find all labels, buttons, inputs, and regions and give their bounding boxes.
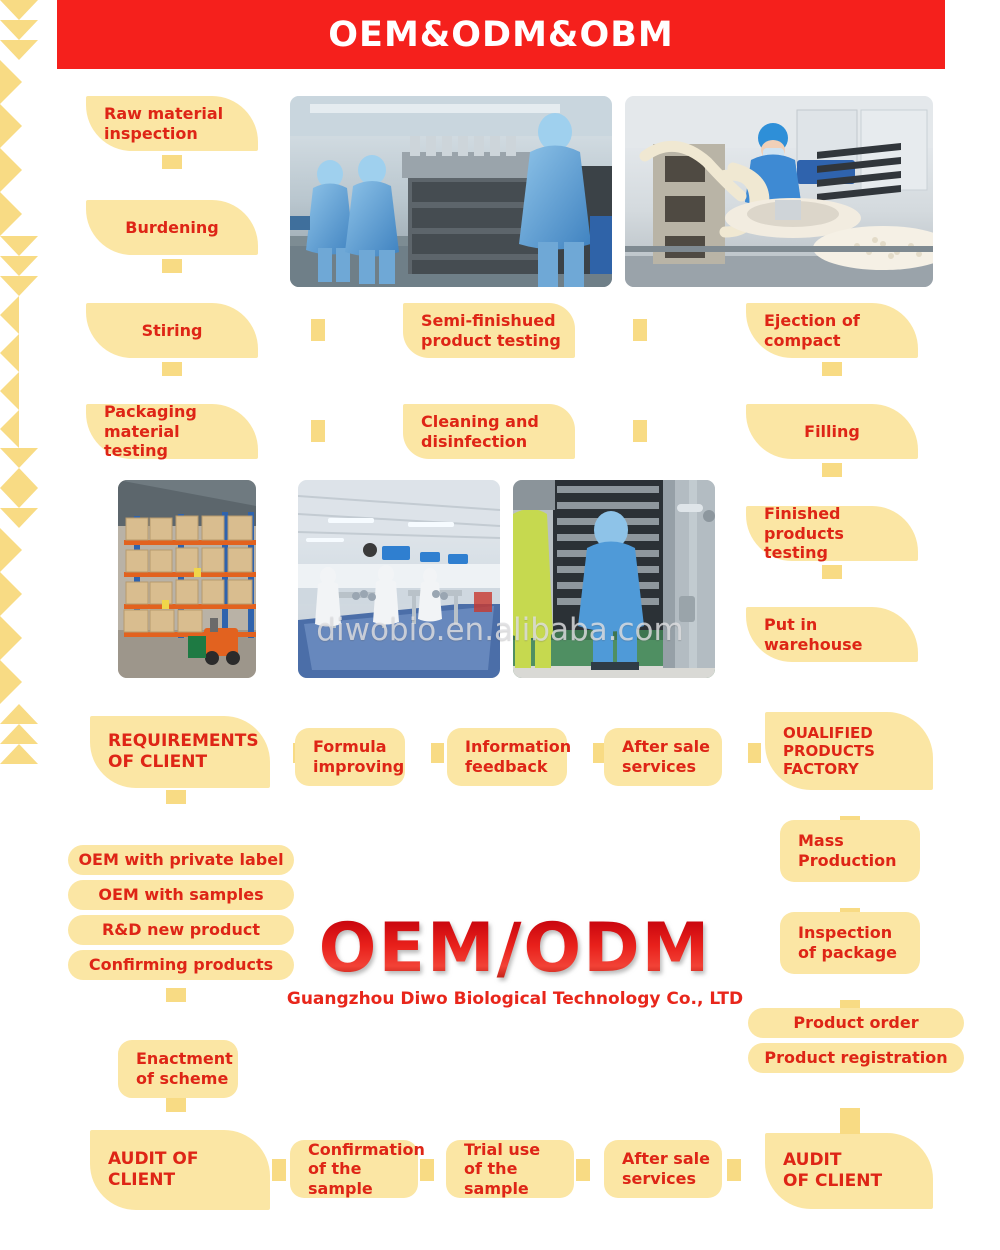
photo-vacuum-drying-oven: [513, 480, 715, 678]
arrow-down-icon-8: [0, 488, 38, 508]
arrow-down-icon-5: [0, 256, 38, 276]
arrow-down-stem-5: [822, 463, 842, 477]
arrow-right-icon-4: [0, 192, 22, 236]
arrow-down-icon-7: [0, 448, 38, 468]
oem-node-trial-use-of-sample: Trial use of the sample: [446, 1140, 574, 1198]
arrow-down-stem-7: [166, 790, 186, 804]
oem-node-inspection-of-package: Inspection of package: [780, 912, 920, 974]
logo-subtitle: Guangzhou Diwo Biological Technology Co.…: [250, 989, 780, 1009]
arrow-right-icon-8: [0, 660, 22, 704]
arrow-down-stem-4: [822, 362, 842, 376]
arrow-left-icon-3: [0, 372, 19, 410]
arrow-down-stem-8: [166, 988, 186, 1002]
flow-node-burdening: Burdening: [86, 200, 258, 255]
arrow-right-stem-5: [272, 1159, 286, 1181]
arrow-down-icon-2: [0, 20, 38, 40]
page-title: OEM&ODM&OBM: [328, 15, 673, 55]
arrow-right-stem-4: [633, 420, 647, 442]
arrow-down-stem-9: [166, 1098, 186, 1112]
flow-node-finished-products-testing: Finished products testing: [746, 506, 918, 561]
oem-node-product-order: Product order: [748, 1008, 964, 1038]
arrow-right-icon-5: [0, 528, 22, 572]
oem-node-audit-of-client-right: AUDIT OF CLIENT: [765, 1133, 933, 1209]
arrow-left-stem-2: [431, 743, 444, 763]
flow-node-raw-material-inspection: Raw material inspection: [86, 96, 258, 151]
arrow-right-stem-1: [311, 319, 325, 341]
oem-service-oem-with-samples: OEM with samples: [68, 880, 294, 910]
flow-node-put-in-warehouse: Put in warehouse: [746, 607, 918, 662]
arrow-right-icon-7: [0, 616, 22, 660]
arrow-right-icon-1: [0, 60, 22, 104]
flow-node-packaging-material-testing: Packaging material testing: [86, 404, 258, 459]
arrow-left-icon-1: [0, 296, 19, 334]
arrow-up-icon-2: [0, 704, 38, 724]
arrow-right-stem-8: [727, 1159, 741, 1181]
flow-node-filling: Filling: [746, 404, 918, 459]
arrow-down-icon-4: [0, 236, 38, 256]
oem-node-qualified-products-factory: OUALIFIED PRODUCTS FACTORY: [765, 712, 933, 790]
oem-node-mass-production: Mass Production: [780, 820, 920, 882]
photo-cleanroom-workshop-art: [298, 480, 500, 678]
oem-node-requirements-of-client: REQUIREMENTS OF CLIENT: [90, 716, 270, 788]
flow-node-ejection-of-compact: Ejection of compact: [746, 303, 918, 358]
oem-service-oem-private-label: OEM with private label: [68, 845, 294, 875]
flow-node-semi-finished-product-testing: Semi-finishued product testing: [403, 303, 575, 358]
arrow-up-icon-4: [0, 744, 38, 764]
arrow-right-icon-6: [0, 572, 22, 616]
photo-capsule-filling-line-art: [290, 96, 612, 287]
arrow-right-stem-3: [633, 319, 647, 341]
arrow-right-stem-2: [311, 420, 325, 442]
flow-node-stiring: Stiring: [86, 303, 258, 358]
arrow-right-stem-7: [576, 1159, 590, 1181]
oem-node-after-sale-services-bottom: After sale services: [604, 1140, 722, 1198]
photo-softgel-encapsulation-art: [625, 96, 933, 287]
arrow-down-icon-3: [0, 40, 38, 60]
arrow-left-icon-4: [0, 410, 19, 448]
photo-warehouse-racking-art: [118, 480, 256, 678]
photo-warehouse-racking: [118, 480, 256, 678]
flow-node-cleaning-and-disinfection: Cleaning and disinfection: [403, 404, 575, 459]
oem-node-confirmation-of-sample: Confirmation of the sample: [290, 1140, 418, 1198]
arrow-up-icon-3: [0, 724, 38, 744]
logo-main-text: OEM/ODM: [250, 915, 780, 983]
arrow-down-icon-1: [0, 0, 38, 20]
arrow-right-stem-6: [420, 1159, 434, 1181]
page-root: OEM&ODM&OBM Raw material inspection Burd…: [0, 0, 1000, 1250]
arrow-down-stem-3: [162, 362, 182, 376]
photo-capsule-filling-line: [290, 96, 612, 287]
photo-softgel-encapsulation: [625, 96, 933, 287]
oem-node-product-registration: Product registration: [748, 1043, 964, 1073]
photo-cleanroom-workshop: [298, 480, 500, 678]
oem-node-enactment-of-scheme: Enactment of scheme: [118, 1040, 238, 1098]
oem-node-information-feedback: Information feedback: [447, 728, 567, 786]
arrow-down-stem-2: [162, 259, 182, 273]
arrow-right-icon-3: [0, 148, 22, 192]
arrow-up-icon-1: [0, 468, 38, 488]
center-logo: OEM/ODM Guangzhou Diwo Biological Techno…: [250, 915, 780, 1009]
oem-node-formula-improving: Formula improving: [295, 728, 405, 786]
arrow-down-icon-9: [0, 508, 38, 528]
arrow-up-stem-4: [840, 1108, 860, 1134]
oem-node-after-sale-services-top: After sale services: [604, 728, 722, 786]
oem-node-audit-of-client-left: AUDIT OF CLIENT: [90, 1130, 270, 1210]
arrow-left-stem-4: [748, 743, 761, 763]
photo-vacuum-drying-oven-art: [513, 480, 715, 678]
arrow-left-icon-2: [0, 334, 19, 372]
arrow-down-stem-6: [822, 565, 842, 579]
arrow-down-stem-1: [162, 155, 182, 169]
arrow-down-icon-6: [0, 276, 38, 296]
page-header-banner: OEM&ODM&OBM: [57, 0, 945, 69]
arrow-right-icon-2: [0, 104, 22, 148]
